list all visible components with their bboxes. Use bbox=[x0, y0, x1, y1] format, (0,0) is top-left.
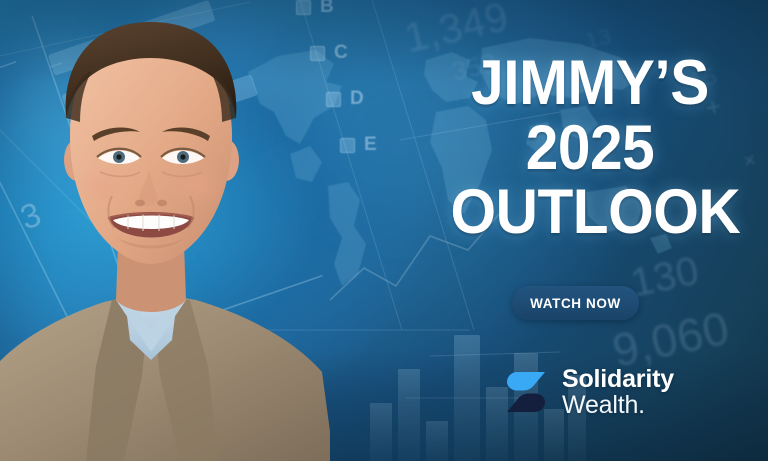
hero-banner: B C D E bbox=[0, 0, 768, 461]
watch-now-button[interactable]: WATCH NOW bbox=[512, 286, 639, 320]
portrait-photo bbox=[0, 0, 330, 461]
headline-line-2: 2025 bbox=[451, 119, 730, 178]
solidarity-wealth-logo[interactable]: Solidarity Wealth. bbox=[500, 366, 674, 418]
headline-line-3: OUTLOOK bbox=[451, 183, 730, 242]
headline-line-1: JIMMY’S bbox=[451, 54, 730, 113]
logo-wordmark: Solidarity Wealth. bbox=[562, 367, 674, 418]
logo-name-primary: Solidarity bbox=[562, 367, 674, 392]
logo-name-secondary: Wealth. bbox=[562, 393, 674, 418]
headline: JIMMY’S 2025 OUTLOOK bbox=[440, 54, 740, 242]
solidarity-wealth-s-mark-icon bbox=[500, 366, 552, 418]
